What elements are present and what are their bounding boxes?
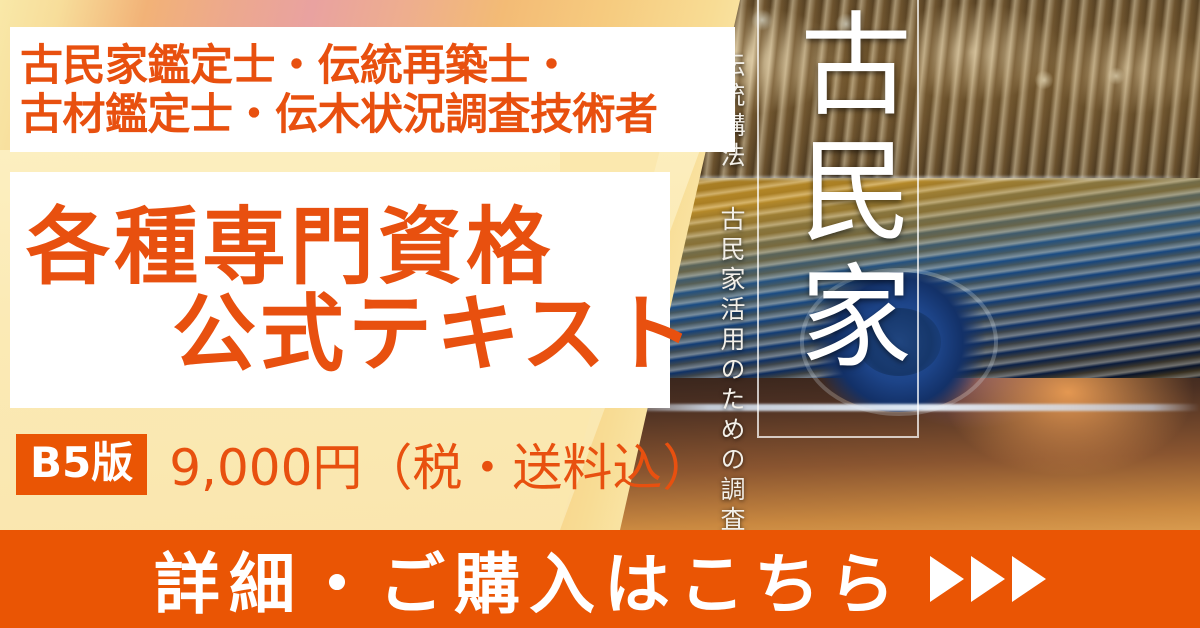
play-arrow-icon: [971, 556, 1005, 602]
cta-bar[interactable]: 詳細・ご購入はこちら: [0, 530, 1200, 628]
certifications-line-1: 古民家鑑定士・伝統再築士・: [20, 42, 730, 91]
play-arrow-icon: [1012, 556, 1046, 602]
price-amount: 9,000円（税・送料込）: [169, 428, 712, 500]
promo-banner: 伝統構法 古民家活用のための調査と再生の 古民家 古民家鑑定士・伝統再築士・ 古…: [0, 0, 1200, 628]
cta-label: 詳細・ご購入はこちら: [154, 531, 904, 627]
play-arrow-icon: [930, 556, 964, 602]
format-badge: B5版: [16, 434, 147, 495]
headline-text: 各種専門資格 公式テキスト: [10, 176, 675, 406]
headline-line-2: 公式テキスト: [10, 291, 675, 378]
headline-line-1: 各種専門資格: [10, 204, 675, 291]
book-cover-title: 古民家: [782, 6, 902, 436]
cta-arrows: [930, 556, 1046, 602]
certifications-line-2: 古材鑑定士・伝木状況調査技術者: [20, 91, 730, 140]
price-row: B5版 9,000円（税・送料込）: [16, 430, 712, 498]
certifications-text: 古民家鑑定士・伝統再築士・ 古材鑑定士・伝木状況調査技術者: [20, 33, 730, 149]
